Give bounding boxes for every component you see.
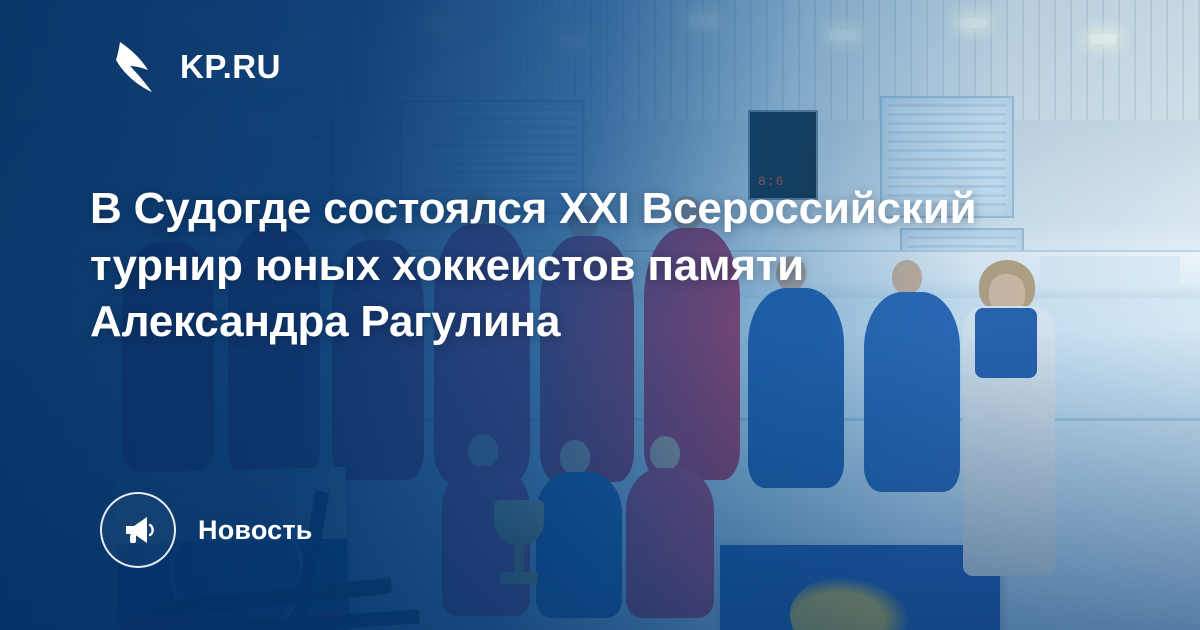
kp-bird-icon: [112, 38, 164, 94]
brand-wordmark: KP.RU: [180, 50, 281, 83]
share-card: 8:6: [0, 0, 1200, 630]
news-badge[interactable]: Новость: [100, 492, 313, 568]
news-badge-label: Новость: [198, 515, 313, 546]
card-content: KP.RU В Судогде состоялся XXI Всероссийс…: [0, 0, 1200, 630]
page-title: В Судогде состоялся XXI Всероссийский ту…: [90, 181, 1030, 350]
megaphone-icon: [100, 492, 176, 568]
brand-lockup[interactable]: KP.RU: [112, 38, 281, 94]
